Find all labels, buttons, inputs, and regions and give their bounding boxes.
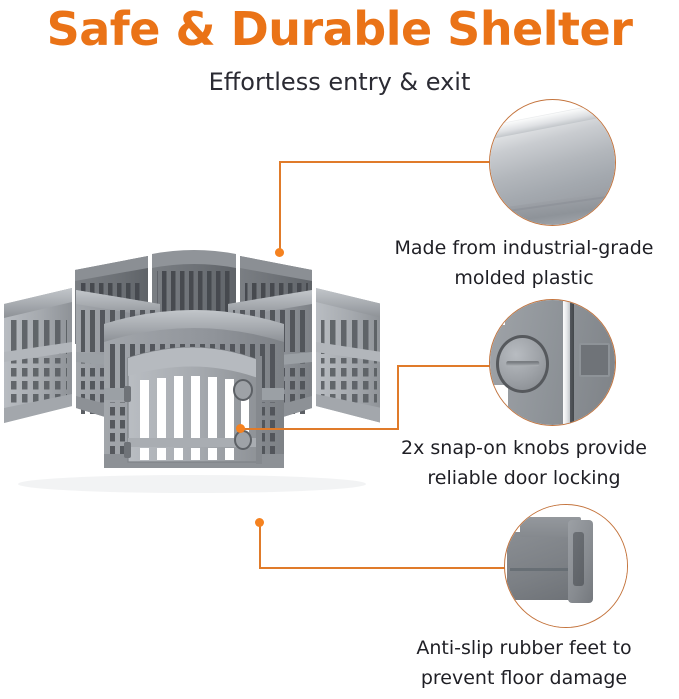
connector-2-vertical bbox=[397, 365, 399, 430]
infographic-page: Safe & Durable Shelter Effortless entry … bbox=[0, 0, 679, 699]
callout-caption-material: Made from industrial-grade molded plasti… bbox=[374, 233, 674, 293]
gate-hinge-top bbox=[124, 386, 131, 402]
callout-caption-door-lock: 2x snap-on knobs provide reliable door l… bbox=[374, 433, 674, 493]
molded-plastic-edge-closeup-icon bbox=[490, 100, 615, 225]
page-title: Safe & Durable Shelter bbox=[0, 2, 679, 56]
caption-1-line-1: Made from industrial-grade bbox=[395, 237, 654, 259]
connector-3-horizontal bbox=[259, 567, 509, 569]
detail-circle-door-lock bbox=[489, 299, 616, 426]
connector-3-vertical bbox=[259, 524, 261, 569]
connector-1-horizontal bbox=[279, 161, 492, 163]
panel-front-with-gate bbox=[104, 310, 284, 468]
detail-circle-material bbox=[489, 99, 616, 226]
callout-dot-1 bbox=[275, 248, 284, 257]
snap-on-knob-closeup-icon bbox=[490, 300, 615, 425]
callout-caption-rubber-feet: Anti-slip rubber feet to prevent floor d… bbox=[374, 633, 674, 693]
caption-2-line-2: reliable door locking bbox=[374, 463, 674, 493]
panel-right-outer bbox=[316, 288, 380, 423]
callout-dot-2 bbox=[236, 424, 245, 433]
caption-2-line-1: 2x snap-on knobs provide bbox=[401, 437, 647, 459]
snap-on-knob-top bbox=[234, 380, 252, 400]
rubber-foot-closeup-icon bbox=[505, 505, 627, 627]
gate-hinge-bottom bbox=[124, 442, 131, 458]
caption-1-line-2: molded plastic bbox=[374, 263, 674, 293]
playpen-svg bbox=[0, 238, 380, 548]
connector-2-horizontal-upper bbox=[397, 365, 492, 367]
caption-3-line-1: Anti-slip rubber feet to bbox=[416, 637, 631, 659]
snap-on-knob-bottom bbox=[235, 431, 251, 449]
gate-door bbox=[124, 347, 262, 464]
caption-3-line-2: prevent floor damage bbox=[374, 663, 674, 693]
product-illustration bbox=[0, 238, 380, 548]
connector-2-horizontal-lower bbox=[241, 428, 399, 430]
panel-left-outer bbox=[4, 288, 72, 423]
connector-1-vertical bbox=[279, 161, 281, 254]
detail-circle-rubber-feet bbox=[504, 504, 628, 628]
page-subtitle: Effortless entry & exit bbox=[0, 66, 679, 98]
callout-dot-3 bbox=[255, 518, 264, 527]
